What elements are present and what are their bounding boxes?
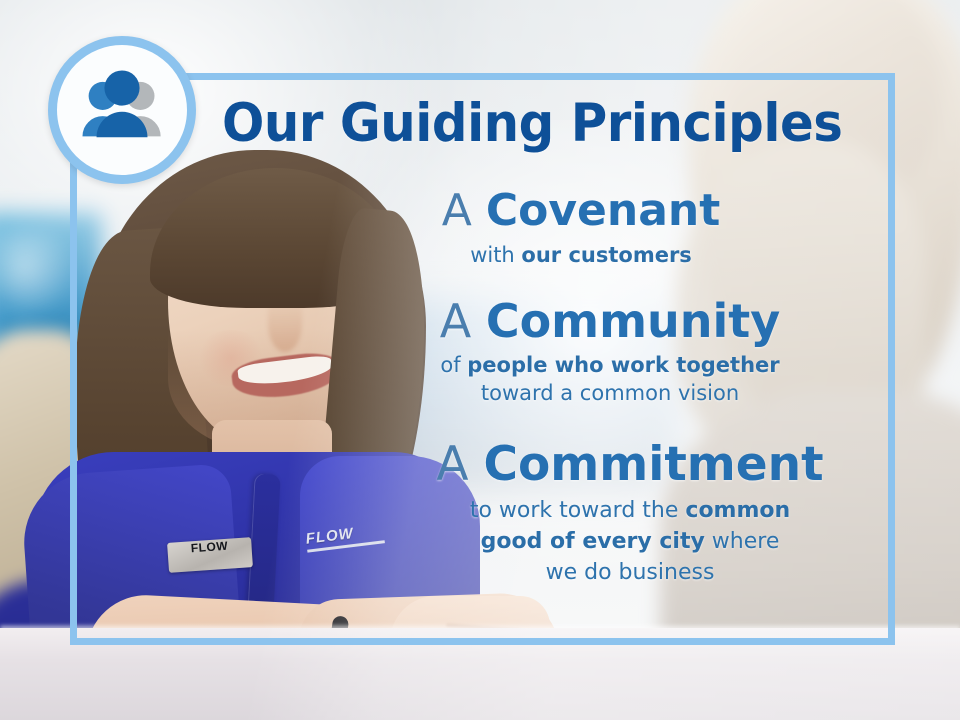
- subtext-segment: where: [705, 529, 780, 554]
- principle-subtext: with our customers: [282, 241, 880, 269]
- guiding-principles-graphic: FLOW FLOW O: [0, 0, 960, 720]
- principles-list: A Covenant with our customers A Communit…: [300, 185, 880, 610]
- principle-word: Commitment: [484, 437, 824, 492]
- principle-community: A Community of people who work together …: [340, 295, 880, 407]
- principle-word: Covenant: [486, 185, 720, 236]
- subtext-segment: toward a common vision: [481, 381, 739, 405]
- white-table-surface: [0, 628, 960, 720]
- subtext-segment: we do business: [546, 560, 715, 585]
- principle-subtext-line: to work toward the common: [380, 495, 880, 526]
- principle-heading: A Covenant: [282, 185, 880, 237]
- principle-commitment: A Commitment to work toward the common g…: [380, 439, 880, 588]
- people-badge-circle: [48, 36, 196, 184]
- principle-covenant: A Covenant with our customers: [282, 185, 880, 269]
- principle-subtext: of people who work together toward a com…: [340, 351, 880, 407]
- principle-word: Community: [486, 294, 780, 348]
- principle-subtext-line: good of every city where: [380, 526, 880, 557]
- subtext-segment-bold: good of every city: [481, 529, 705, 554]
- principle-subtext: to work toward the common good of every …: [380, 495, 880, 588]
- flow-name-badge: FLOW: [167, 537, 253, 573]
- subtext-segment-bold: our customers: [521, 243, 691, 267]
- subtext-segment: of: [440, 353, 467, 377]
- subtext-segment-bold: common: [685, 498, 790, 523]
- people-group-icon: [57, 45, 187, 175]
- flow-name-badge-text: FLOW: [190, 539, 228, 557]
- subtext-segment-bold: people who work together: [467, 353, 779, 377]
- principle-article: A: [440, 294, 471, 348]
- principle-heading: A Commitment: [380, 439, 880, 491]
- principle-heading: A Community: [340, 295, 880, 347]
- subtext-segment: to work toward the: [470, 498, 686, 523]
- principle-subtext-line: of people who work together: [340, 351, 880, 379]
- principle-article: A: [436, 437, 468, 492]
- principle-subtext-line: with our customers: [282, 241, 880, 269]
- page-title: Our Guiding Principles: [222, 96, 833, 152]
- principle-subtext-line: toward a common vision: [340, 379, 880, 407]
- principle-subtext-line: we do business: [380, 557, 880, 588]
- principle-article: A: [442, 185, 472, 236]
- subtext-segment: with: [470, 243, 521, 267]
